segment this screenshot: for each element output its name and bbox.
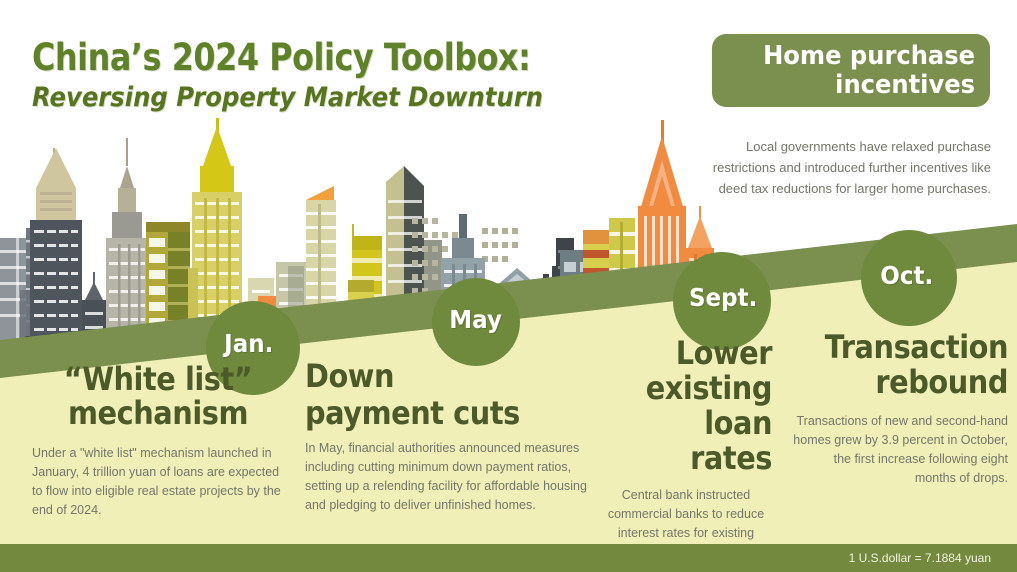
timeline-label-may: May <box>449 305 502 334</box>
column-heading: “White list”mechanism <box>34 362 282 430</box>
footer-bar: 1 U.S.dollar = 7.1884 yuan <box>0 544 1017 572</box>
column-body: In May, financial authorities announced … <box>305 439 590 515</box>
policy-column-lower-loan-rates: Lowerexistingloan rates Central bank ins… <box>600 336 772 562</box>
timeline-label-sept: Sept. <box>689 283 757 312</box>
column-heading: Lowerexistingloan rates <box>617 336 772 476</box>
column-body: Transactions of new and second-hand home… <box>790 412 1008 488</box>
policy-column-white-list: “White list”mechanism Under a "white lis… <box>20 362 296 520</box>
column-body: Under a "white list" mechanism launched … <box>20 444 292 520</box>
badge-description: Local governments have relaxed purchase … <box>686 136 991 199</box>
column-heading: Transactionrebound <box>812 330 1008 400</box>
timeline-label-jan: Jan. <box>224 329 273 358</box>
timeline-label-oct: Oct. <box>880 261 933 290</box>
infographic-root: China’s 2024 Policy Toolbox: Reversing P… <box>0 0 1017 572</box>
home-purchase-incentives-badge: Home purchaseincentives <box>712 34 990 107</box>
page-title: China’s 2024 Policy Toolbox: <box>32 38 530 78</box>
exchange-rate-note: 1 U.S.dollar = 7.1884 yuan <box>849 551 1017 565</box>
column-heading: Downpayment cuts <box>305 358 562 432</box>
header-title-block: China’s 2024 Policy Toolbox: Reversing P… <box>32 38 612 114</box>
badge-label: Home purchaseincentives <box>763 42 990 100</box>
policy-column-transaction-rebound: Transactionrebound Transactions of new a… <box>790 330 1008 488</box>
policy-column-down-payment-cuts: Downpayment cuts In May, financial autho… <box>305 358 590 515</box>
page-subtitle: Reversing Property Market Downturn <box>32 82 554 114</box>
